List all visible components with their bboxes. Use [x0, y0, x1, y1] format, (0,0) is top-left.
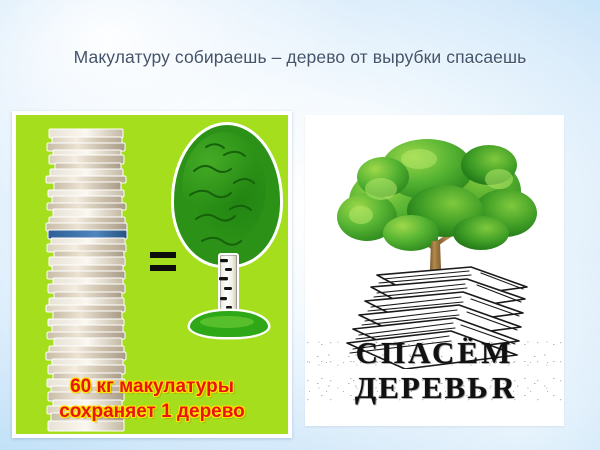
- slogan-line-2-part-a: ДЕРЕВЬ: [355, 370, 490, 405]
- caption-line-1: 60 кг макулатуры: [16, 374, 288, 399]
- caption-line-2: сохраняет 1 дерево: [16, 399, 288, 424]
- left-card-caption: 60 кг макулатуры сохраняет 1 дерево: [16, 374, 288, 424]
- left-illustration-card: 60 кг макулатуры сохраняет 1 дерево: [12, 111, 292, 438]
- slide-title: Макулатуру собираешь – дерево от вырубки…: [0, 47, 600, 68]
- slogan-line-2: ДЕРЕВЬЯ: [305, 372, 564, 403]
- left-card-green-background: 60 кг макулатуры сохраняет 1 дерево: [16, 115, 288, 434]
- slide-canvas: Макулатуру собираешь – дерево от вырубки…: [0, 0, 600, 450]
- birch-tree-illustration: [168, 125, 286, 337]
- slogan-line-2-mirrored-letter: Я: [490, 372, 514, 403]
- grass-tuft: [190, 311, 268, 337]
- right-poster-card: СПАСЁМ ДЕРЕВЬЯ: [305, 115, 564, 426]
- slogan-line-1: СПАСЁМ: [305, 337, 564, 368]
- poster-slogan: СПАСЁМ ДЕРЕВЬЯ: [305, 337, 564, 403]
